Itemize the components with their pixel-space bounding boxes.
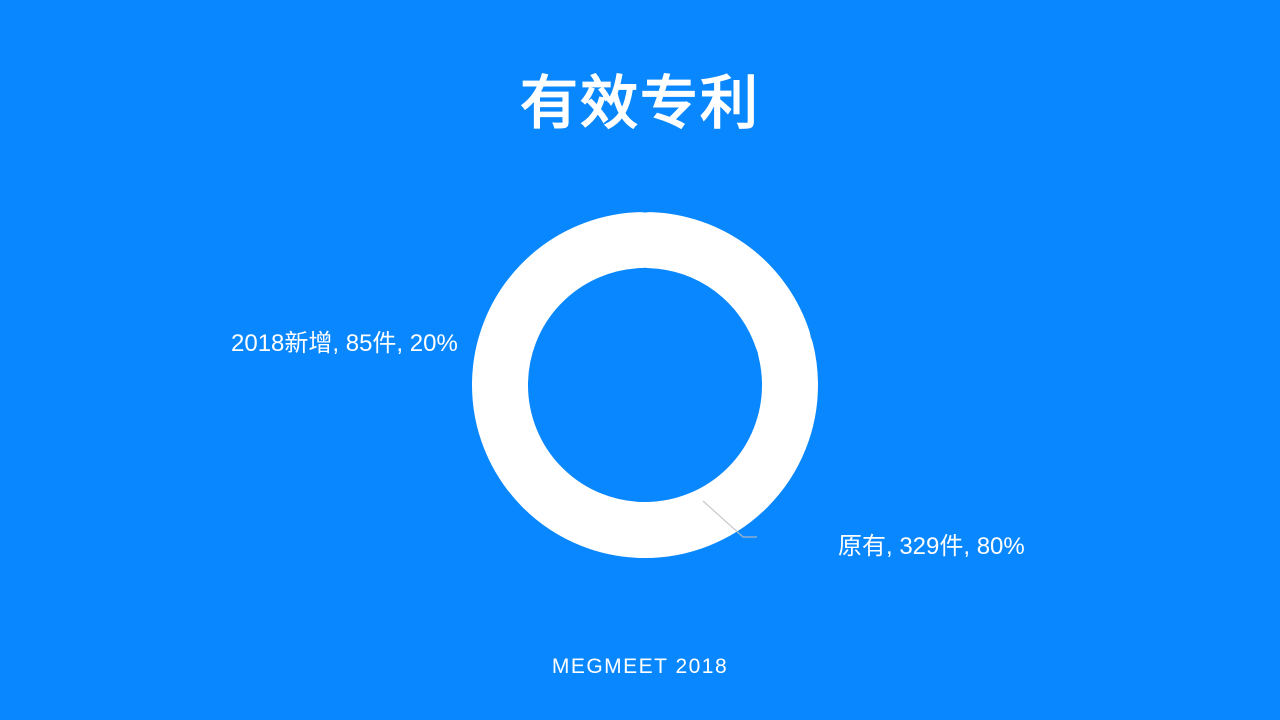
slice-label-existing: 原有, 329件, 80% [838, 533, 1025, 562]
donut-chart [445, 185, 845, 585]
slide-footer: MEGMEET 2018 [0, 655, 1280, 679]
slice-label-new-2018: 2018新增, 85件, 20% [231, 330, 458, 359]
slide-canvas: 有效专利 2018新增, 85件, 20% 原有, 329件, 80% MEGM… [0, 0, 1280, 720]
page-title: 有效专利 [0, 72, 1280, 136]
